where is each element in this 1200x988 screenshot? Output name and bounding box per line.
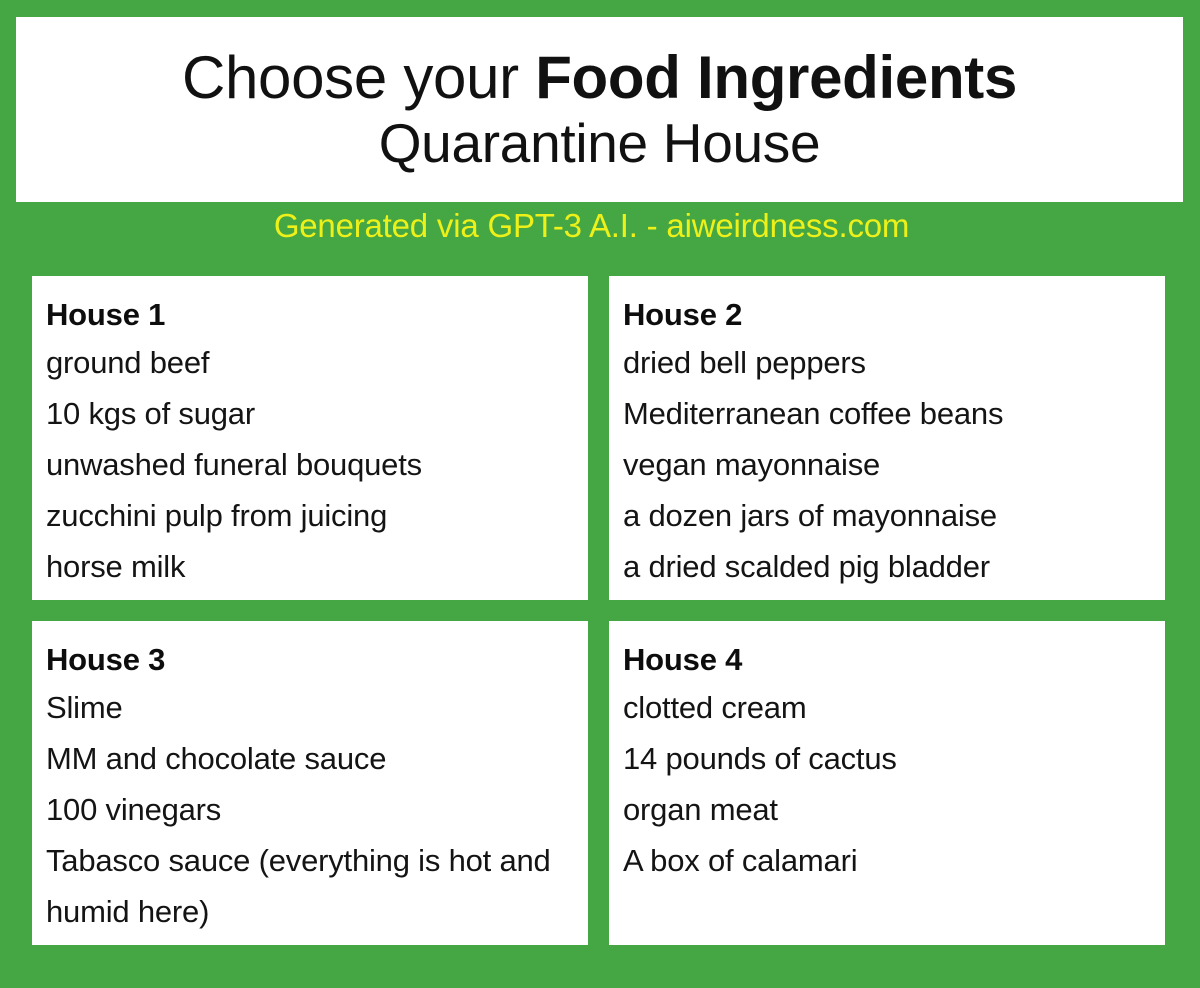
list-item: ground beef [46, 337, 568, 388]
header-card: Choose your Food Ingredients Quarantine … [16, 17, 1183, 202]
house-title: House 3 [46, 639, 568, 682]
list-item: Mediterranean coffee beans [623, 388, 1145, 439]
list-item: a dozen jars of mayonnaise [623, 490, 1145, 541]
house-card-3: House 3 Slime MM and chocolate sauce 100… [32, 621, 588, 945]
list-item: a dried scalded pig bladder [623, 541, 1145, 592]
list-item: dried bell peppers [623, 337, 1145, 388]
list-item: Slime [46, 682, 568, 733]
list-item: clotted cream [623, 682, 1145, 733]
house-ingredient-list: ground beef 10 kgs of sugar unwashed fun… [46, 337, 568, 593]
house-title: House 2 [623, 294, 1145, 337]
house-ingredient-list: Slime MM and chocolate sauce 100 vinegar… [46, 682, 568, 938]
house-card-1: House 1 ground beef 10 kgs of sugar unwa… [32, 276, 588, 600]
page-title-line-1: Choose your Food Ingredients [182, 46, 1017, 111]
list-item: horse milk [46, 541, 568, 592]
house-ingredient-list: dried bell peppers Mediterranean coffee … [623, 337, 1145, 593]
list-item: unwashed funeral bouquets [46, 439, 568, 490]
page-title-line-2: Quarantine House [379, 113, 821, 174]
list-item: 100 vinegars [46, 784, 568, 835]
house-card-2: House 2 dried bell peppers Mediterranean… [609, 276, 1165, 600]
list-item: 10 kgs of sugar [46, 388, 568, 439]
house-card-4: House 4 clotted cream 14 pounds of cactu… [609, 621, 1165, 945]
attribution-subtitle: Generated via GPT-3 A.I. - aiweirdness.c… [0, 205, 1183, 246]
poster-root: Choose your Food Ingredients Quarantine … [0, 0, 1200, 988]
list-item: 14 pounds of cactus [623, 733, 1145, 784]
list-item: Tabasco sauce (everything is hot and hum… [46, 835, 568, 937]
houses-grid: House 1 ground beef 10 kgs of sugar unwa… [32, 276, 1165, 945]
list-item: MM and chocolate sauce [46, 733, 568, 784]
house-title: House 4 [623, 639, 1145, 682]
page-title-prefix: Choose your [182, 44, 535, 111]
list-item: vegan mayonnaise [623, 439, 1145, 490]
list-item: zucchini pulp from juicing [46, 490, 568, 541]
house-ingredient-list: clotted cream 14 pounds of cactus organ … [623, 682, 1145, 887]
list-item: organ meat [623, 784, 1145, 835]
house-title: House 1 [46, 294, 568, 337]
list-item: A box of calamari [623, 835, 1145, 886]
page-title-highlight: Food Ingredients [535, 44, 1017, 111]
